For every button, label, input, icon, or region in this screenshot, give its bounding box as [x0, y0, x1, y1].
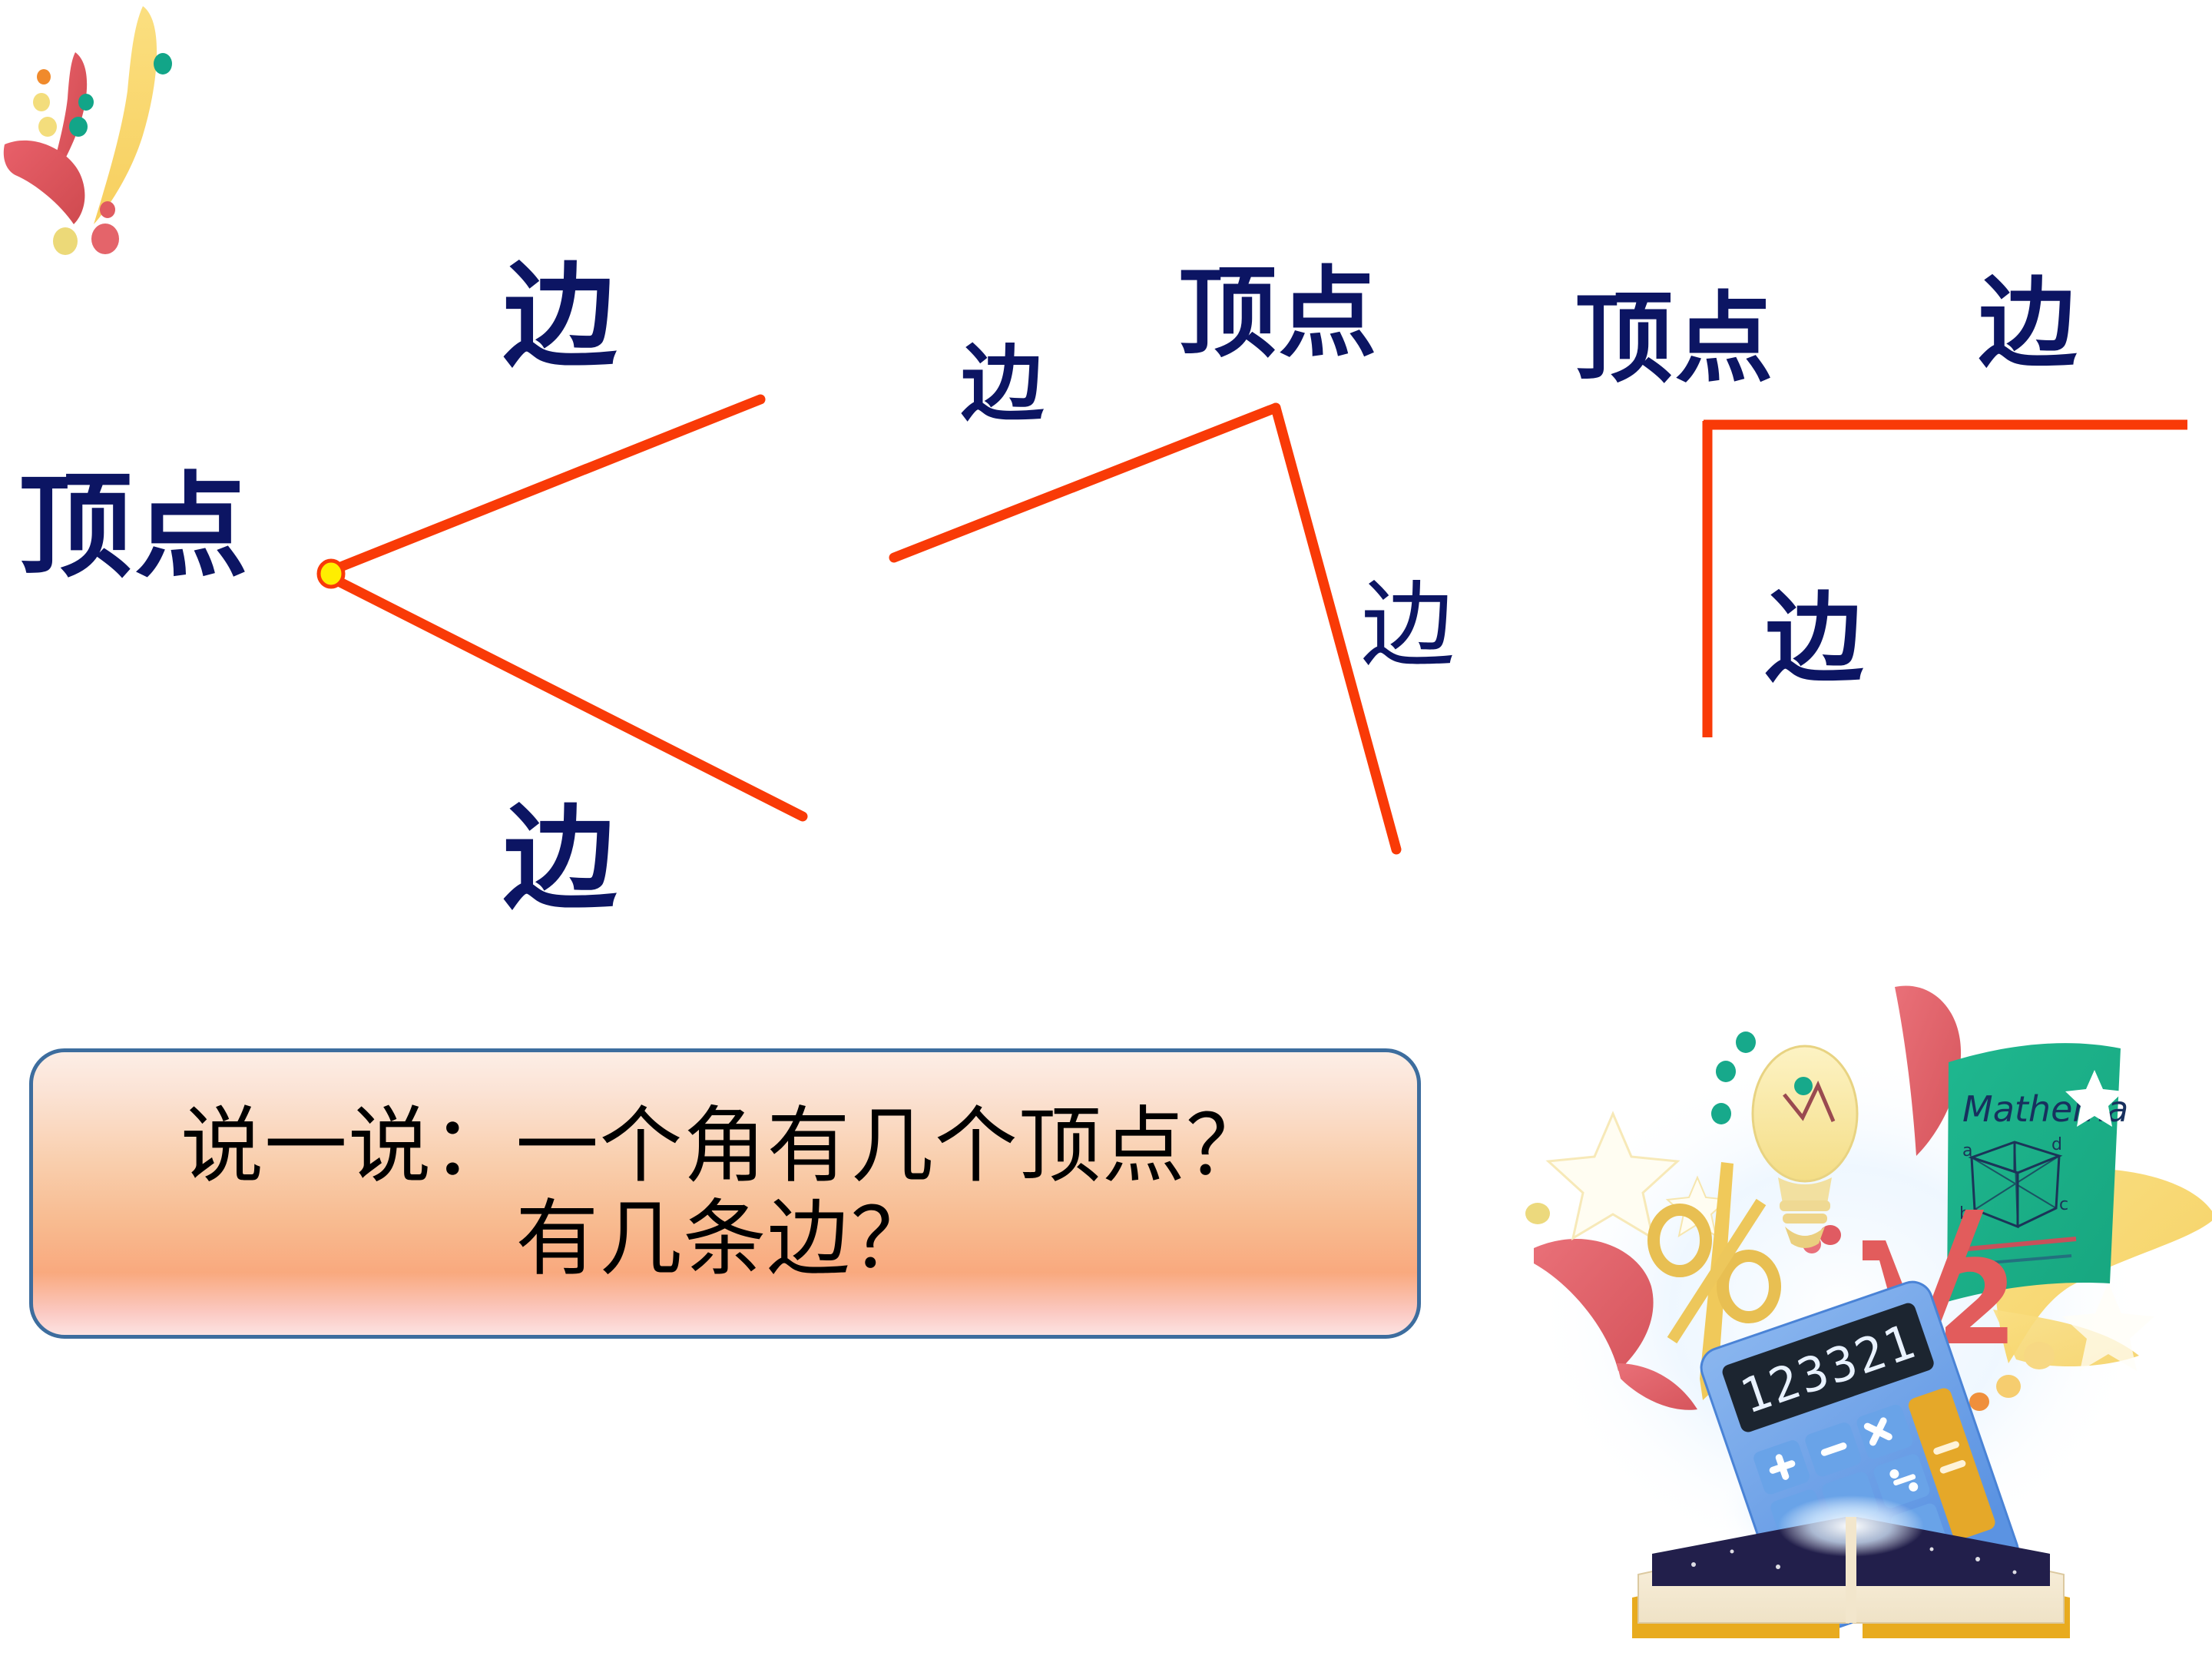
obtuse-side-label-left: 边 [961, 343, 1045, 426]
svg-text:c: c [2059, 1195, 2068, 1214]
vertex-dot [319, 561, 343, 587]
acute-vertex-label: 顶点 [18, 470, 250, 584]
orange-dot [1969, 1392, 1989, 1411]
teal-dot [1716, 1061, 1736, 1082]
teal-dot [1736, 1031, 1756, 1053]
question-line-2: 有几条边？ [515, 1194, 934, 1286]
obtuse-vertex-label: 顶点 [1178, 265, 1379, 363]
diagram-obtuse-angle [894, 408, 1396, 849]
teal-dot [1711, 1103, 1731, 1124]
diagram-acute-angle [319, 399, 803, 816]
yellow-dot [1525, 1203, 1550, 1224]
math-illustration: Mathema a d c b [1502, 979, 2212, 1659]
obtuse-ray-left [894, 408, 1276, 558]
question-line-1: 说一说：一个角有几个顶点？ [180, 1101, 1270, 1194]
right-side-label-bottom: 边 [1765, 590, 1866, 688]
svg-text:a: a [1962, 1141, 1972, 1161]
slide-canvas: 边 顶点 边 边 顶点 边 顶点 边 边 说一说：一个角有几个顶点？ 有几条边？ [0, 0, 2212, 1659]
acute-side-label-top: 边 [503, 260, 619, 373]
red-dot [1820, 1225, 1841, 1245]
right-side-label-top: 边 [1979, 275, 2079, 373]
acute-ray-lower [331, 578, 803, 816]
yellow-dot [1996, 1375, 2021, 1398]
right-vertex-label: 顶点 [1575, 290, 1775, 389]
acute-side-label-bottom: 边 [503, 802, 619, 916]
question-callout-box: 说一说：一个角有几个顶点？ 有几条边？ [29, 1048, 1421, 1339]
obtuse-side-label-right: 边 [1361, 578, 1456, 672]
acute-ray-upper [331, 399, 760, 571]
svg-text:d: d [2051, 1135, 2062, 1154]
yellow-dot [2024, 1342, 2055, 1369]
